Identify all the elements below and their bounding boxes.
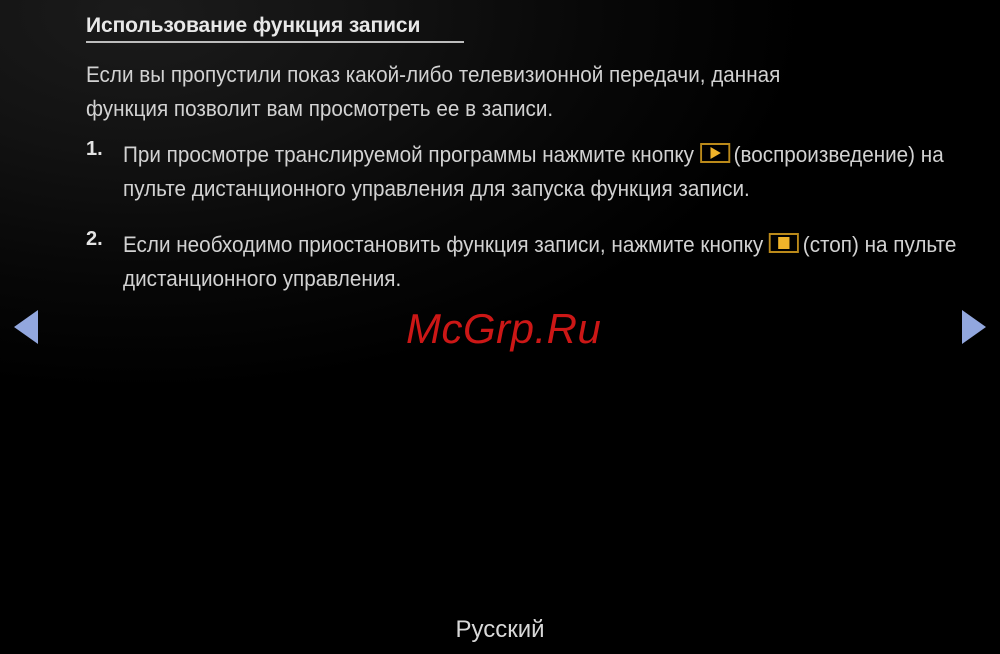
intro-paragraph: Если вы пропустили показ какой-либо теле…: [86, 58, 866, 126]
site-watermark: McGrp.Ru: [406, 305, 601, 353]
triangle-right-icon[interactable]: [962, 310, 986, 344]
list-item: 2. Если необходимо приостановить функция…: [86, 228, 966, 296]
step-text-before: При просмотре транслируемой программы на…: [123, 142, 700, 167]
step-number: 1.: [86, 138, 116, 161]
step-number: 2.: [86, 228, 116, 251]
stop-icon: [769, 233, 799, 253]
step-text: Если необходимо приостановить функция за…: [123, 228, 969, 296]
language-label: Русский: [0, 616, 1000, 644]
step-text: При просмотре транслируемой программы на…: [123, 138, 969, 206]
triangle-left-icon[interactable]: [14, 310, 38, 344]
page-content: Использование функция записи Если вы про…: [0, 0, 1000, 654]
step-text-before: Если необходимо приостановить функция за…: [123, 232, 769, 257]
list-item: 1. При просмотре транслируемой программы…: [86, 138, 966, 206]
tv-manual-screen: Использование функция записи Если вы про…: [0, 0, 1000, 654]
play-icon: [700, 143, 730, 163]
title-underline-rule: [86, 41, 464, 43]
page-title: Использование функция записи: [86, 14, 420, 38]
steps-list: 1. При просмотре транслируемой программы…: [86, 138, 966, 318]
